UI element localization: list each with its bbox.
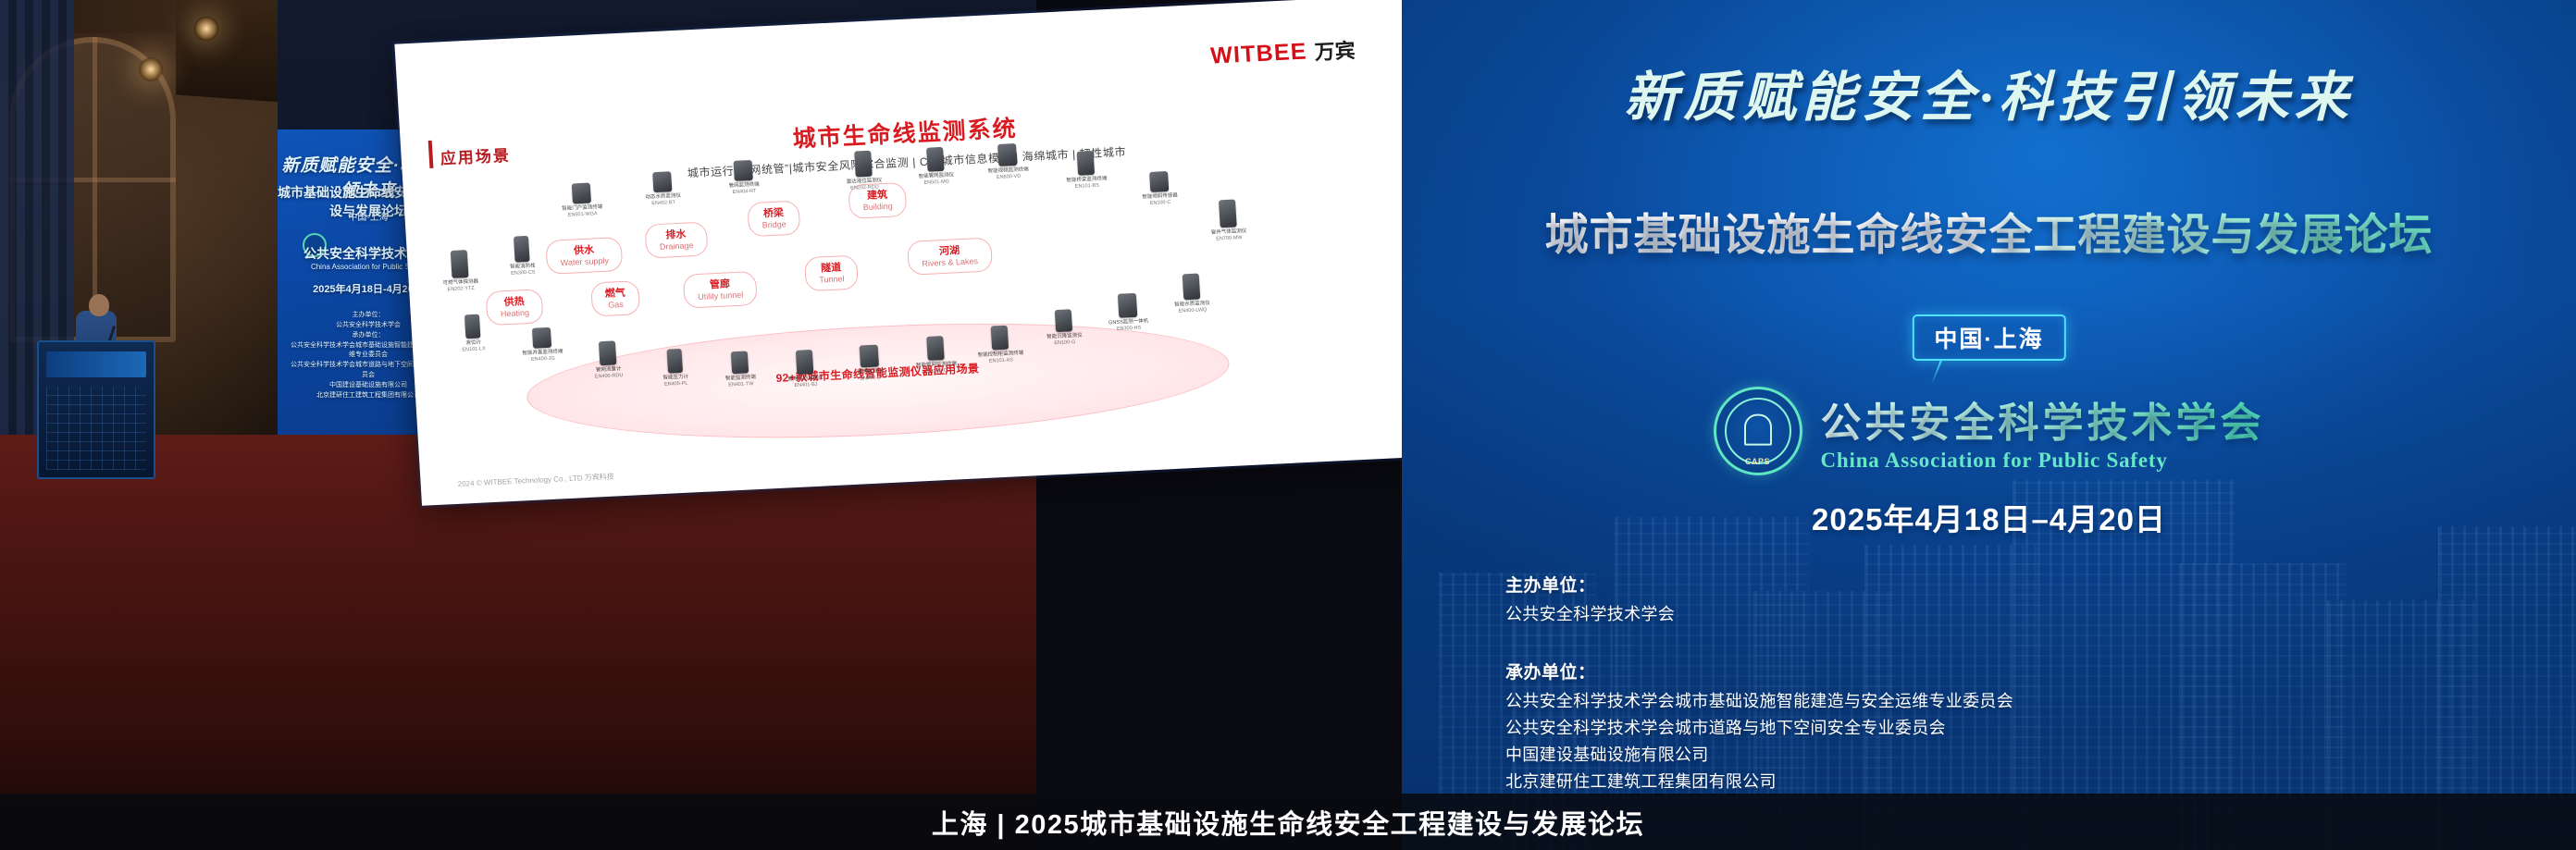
device-icon xyxy=(796,350,814,375)
device-icon xyxy=(599,340,617,365)
screenshot-root: 新质赋能安全·科技引领未来 城市基础设施生命线安全工程建设与发展论坛 中国·上海… xyxy=(0,0,2576,850)
category-label-cn: 燃气 xyxy=(604,288,625,301)
caption-text: 上海 | 2025城市基础设施生命线安全工程建设与发展论坛 xyxy=(932,803,1644,842)
brand-name-cn: 万宾 xyxy=(1314,34,1356,66)
category-label-cn: 供热 xyxy=(500,296,529,309)
device-item: 智能消防栓EN300-CS xyxy=(491,235,553,278)
device-icon xyxy=(451,250,469,278)
device-item: 可燃气体探测器EN202-YTZ xyxy=(429,249,491,294)
co-organizer-block: 承办单位： 公共安全科学技术学会城市基础设施智能建造与安全运维专业委员会公共安全… xyxy=(1505,659,2013,796)
device-icon xyxy=(667,349,684,374)
organizer-line: 公共安全科学技术学会 xyxy=(1505,601,1675,628)
association-text: 公共安全科学技术学会 China Association for Public … xyxy=(1821,389,2265,473)
association-name-en: China Association for Public Safety xyxy=(1821,449,2265,473)
device-item: 智能压力计EN405-PL xyxy=(645,348,706,389)
category-bubble: 排水Drainage xyxy=(644,221,708,258)
podium-banner xyxy=(46,351,146,377)
device-item: 窨井气体监测仪EN700-MW xyxy=(1197,198,1259,243)
device-icon xyxy=(514,236,530,263)
event-backdrop: 新质赋能安全·科技引领未来 城市基础设施生命线安全工程建设与发展论坛 中国·上海… xyxy=(1402,0,2576,850)
co-organizer-lines: 公共安全科学技术学会城市基础设施智能建造与安全运维专业委员会公共安全科学技术学会… xyxy=(1505,688,2013,796)
device-item: 智能管网监测仪EN501-MG xyxy=(905,146,966,188)
device-item: 智能桥梁监测终端EN101-BS xyxy=(1056,150,1117,191)
category-label-en: Rivers & Lakes xyxy=(922,256,978,268)
device-icon xyxy=(731,351,749,374)
category-label-en: Tunnel xyxy=(819,274,845,285)
device-icon xyxy=(997,143,1017,166)
organizer-lines: 公共安全科学技术学会 xyxy=(1505,601,1675,628)
event-date: 2025年4月18日–4月20日 xyxy=(1402,495,2576,539)
device-item: 液位计EN101-LX xyxy=(442,313,503,354)
device-icon xyxy=(572,183,591,204)
association-row: CAPS 公共安全科学技术学会 China Association for Pu… xyxy=(1402,387,2576,475)
seal-abbr: CAPS xyxy=(1716,457,1800,466)
device-item: 智能沉降监测仪EN100-G xyxy=(1034,308,1095,348)
category-label-en: Gas xyxy=(605,299,626,309)
association-name-cn: 公共安全科学技术学会 xyxy=(1821,389,2265,449)
projection-slide-container: WITBEE 万宾 应用场景 城市生命线监测系统 城市运行“一网统管”|城市安全… xyxy=(394,0,1429,506)
co-organizer-heading: 承办单位： xyxy=(1505,659,2013,684)
device-icon xyxy=(652,171,672,192)
spotlight-icon xyxy=(194,17,218,41)
device-icon xyxy=(926,147,945,172)
device-item: 智能水质监测仪EN400-LWQ xyxy=(1161,272,1223,315)
category-label-en: Drainage xyxy=(660,240,694,252)
city-chip: 中国·上海 xyxy=(1912,314,2065,361)
device-icon xyxy=(854,151,873,178)
device-icon xyxy=(464,314,481,339)
category-bubble: 河湖Rivers & Lakes xyxy=(907,237,993,275)
speaker-head xyxy=(89,294,109,316)
organizer-block: 主办单位： 公共安全科学技术学会 xyxy=(1505,572,1675,628)
device-item: 智能井盖监测终端EN400-JG xyxy=(512,326,573,364)
organizer-heading: 主办单位： xyxy=(1505,572,1675,597)
device-item: 智能管网监测终端EN200-C xyxy=(905,335,966,376)
category-label-cn: 隧道 xyxy=(818,262,844,275)
category-label-cn: 桥梁 xyxy=(762,207,786,220)
device-item: 智能倾斜传感器EN100-C xyxy=(1129,170,1190,208)
caption-bar: 上海 | 2025城市基础设施生命线安全工程建设与发展论坛 xyxy=(0,794,2576,850)
device-item: 噪声监测仪EN200-D xyxy=(839,343,900,383)
co-organizer-line: 公共安全科学技术学会城市基础设施智能建造与安全运维专业委员会 xyxy=(1505,688,2013,715)
category-label-en: Bridge xyxy=(762,219,786,230)
device-item: 管网监测终端EN404-RT xyxy=(713,159,774,197)
caps-seal-icon: CAPS xyxy=(1714,387,1802,475)
category-label-en: Utility tunnel xyxy=(698,289,744,302)
device-icon xyxy=(991,326,1009,351)
category-label-en: Building xyxy=(862,201,893,212)
device-icon xyxy=(1077,151,1096,176)
category-label-en: Heating xyxy=(501,308,530,319)
device-item: 管网流量计EN400-RDU xyxy=(577,339,638,381)
device-icon xyxy=(532,327,551,349)
calligraphy-headline: 新质赋能安全·科技引领未来 xyxy=(1402,54,2576,131)
category-bubble: 供水Water supply xyxy=(545,237,623,275)
category-bubble: 燃气Gas xyxy=(590,280,640,316)
device-item: 智能监测终端EN401-TW xyxy=(710,350,771,389)
device-icon xyxy=(734,160,753,181)
device-item: 管网水质监测仪EN401-BJ xyxy=(774,349,836,390)
spotlight-icon xyxy=(139,57,163,81)
podium xyxy=(37,340,155,479)
device-icon xyxy=(860,345,879,368)
device-icon xyxy=(1183,274,1201,301)
presentation-slide: WITBEE 万宾 应用场景 城市生命线监测系统 城市运行“一网统管”|城市安全… xyxy=(394,0,1429,506)
device-icon xyxy=(1118,293,1138,318)
category-bubble: 管廊Utility tunnel xyxy=(683,271,758,309)
device-item: 智能视频监测终端EN600-VD xyxy=(977,142,1038,182)
slide-footer: 2024 © WITBEE Technology Co., LTD 万宾科技 xyxy=(457,472,614,489)
device-item: 智能控制柜监测终端EN101-AS xyxy=(970,325,1031,366)
forum-title: 城市基础设施生命线安全工程建设与发展论坛 xyxy=(1402,199,2576,263)
co-organizer-line: 北京建研住工建筑工程集团有限公司 xyxy=(1505,769,2013,795)
brand-mark: WITBEE xyxy=(1209,38,1307,69)
category-bubble: 桥梁Bridge xyxy=(747,201,800,238)
device-item: 雷达液位监测仪EN202-RDU xyxy=(833,150,895,193)
device-icon xyxy=(1055,309,1072,332)
category-bubble: 隧道Tunnel xyxy=(804,255,859,292)
device-icon xyxy=(926,336,945,361)
device-icon xyxy=(1149,171,1169,192)
seal-gate-glyph xyxy=(1744,414,1772,446)
co-organizer-line: 公共安全科学技术学会城市道路与地下空间安全专业委员会 xyxy=(1505,715,2013,742)
device-item: GNSS监测一体机EN300-HS xyxy=(1097,292,1158,334)
device-item: 动态水质监测仪EN402-BT xyxy=(632,170,693,208)
podium-texture xyxy=(46,387,146,470)
co-organizer-line: 中国建设基础设施有限公司 xyxy=(1505,742,2013,769)
device-item: 智能门户监测终端EN501-WGA xyxy=(551,181,613,219)
device-icon xyxy=(1219,199,1237,228)
category-label-en: Water supply xyxy=(560,255,609,267)
witbee-logo: WITBEE 万宾 xyxy=(1209,34,1356,71)
